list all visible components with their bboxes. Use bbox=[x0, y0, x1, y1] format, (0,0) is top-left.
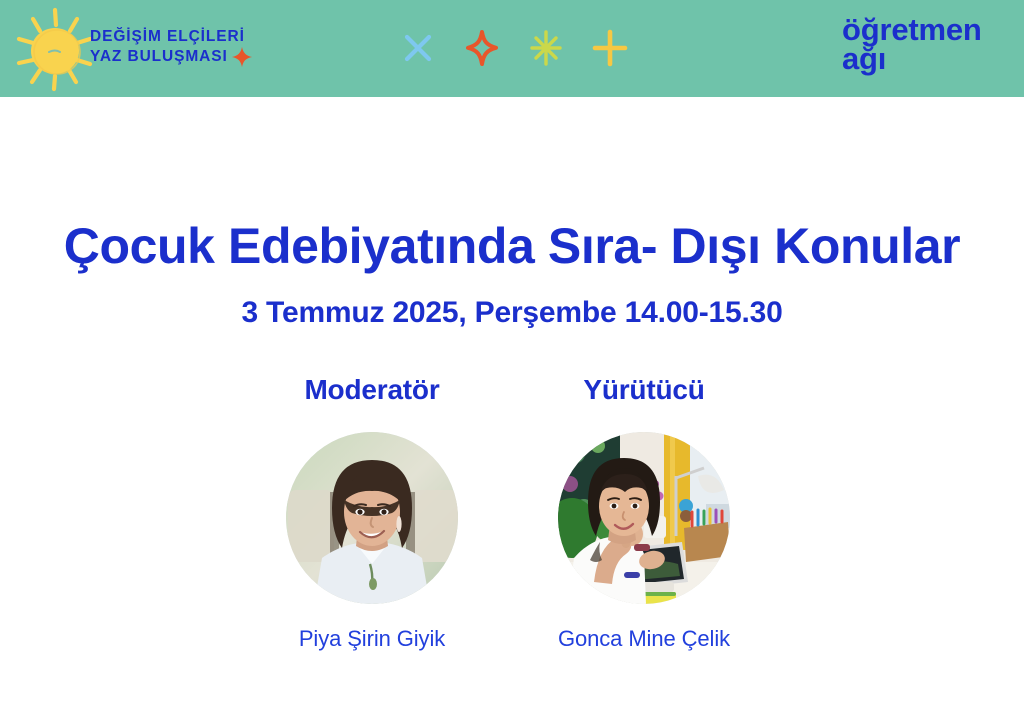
brand-left-line1: DEĞİŞİM ELÇİLERİ bbox=[90, 28, 253, 45]
person-role-label: Moderatör bbox=[304, 374, 439, 406]
brand-left-row2: YAZ BULUŞMASI bbox=[90, 45, 253, 68]
decoration-row bbox=[398, 24, 638, 72]
main-content: Çocuk Edebiyatında Sıra- Dışı Konular 3 … bbox=[0, 97, 1024, 724]
page-title: Çocuk Edebiyatında Sıra- Dışı Konular bbox=[0, 217, 1024, 275]
people-row: Moderatör bbox=[268, 374, 748, 652]
person-card-moderator: Moderatör bbox=[268, 374, 476, 652]
sun-icon bbox=[12, 6, 98, 92]
person-name: Gonca Mine Çelik bbox=[558, 626, 730, 652]
plus-icon bbox=[590, 26, 630, 70]
event-datetime: 3 Temmuz 2025, Perşembe 14.00-15.30 bbox=[0, 296, 1024, 330]
brand-left: DEĞİŞİM ELÇİLERİ YAZ BULUŞMASI bbox=[90, 28, 253, 68]
person-name: Piya Şirin Giyik bbox=[299, 626, 445, 652]
sparkle-icon bbox=[462, 26, 502, 70]
sparkle-icon bbox=[231, 46, 253, 68]
person-card-facilitator: Yürütücü bbox=[540, 374, 748, 652]
brand-left-line2: YAZ BULUŞMASI bbox=[90, 48, 228, 65]
avatar bbox=[558, 432, 730, 604]
asterisk-icon bbox=[526, 26, 566, 70]
avatar bbox=[286, 432, 458, 604]
header-band: DEĞİŞİM ELÇİLERİ YAZ BULUŞMASI bbox=[0, 0, 1024, 97]
brand-right-logo: öğretmen ağı bbox=[842, 16, 982, 73]
brand-right-line2: ağı bbox=[842, 45, 982, 74]
person-role-label: Yürütücü bbox=[583, 374, 704, 406]
x-mark-icon bbox=[398, 26, 438, 70]
